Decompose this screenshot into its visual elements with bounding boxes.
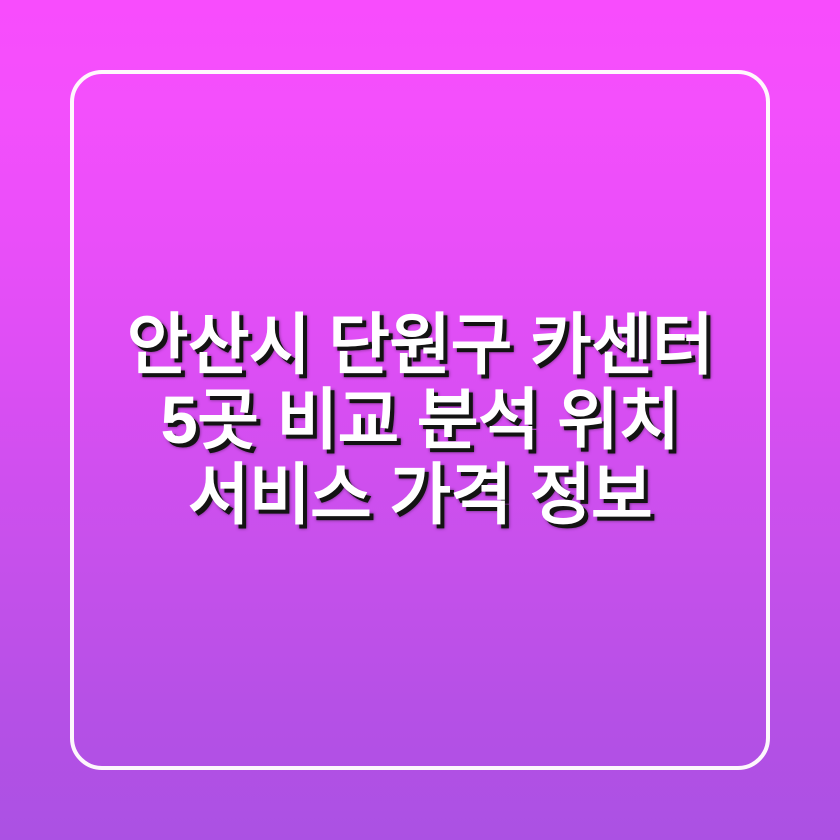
headline-line-1: 안산시 단원구 카센터: [94, 308, 746, 383]
poster-canvas: 안산시 단원구 카센터 5곳 비교 분석 위치 서비스 가격 정보: [0, 0, 840, 840]
headline-line-2: 5곳 비교 분석 위치: [94, 383, 746, 458]
headline-line-3: 서비스 가격 정보: [94, 458, 746, 533]
headline-block: 안산시 단원구 카센터 5곳 비교 분석 위치 서비스 가격 정보: [70, 70, 770, 770]
